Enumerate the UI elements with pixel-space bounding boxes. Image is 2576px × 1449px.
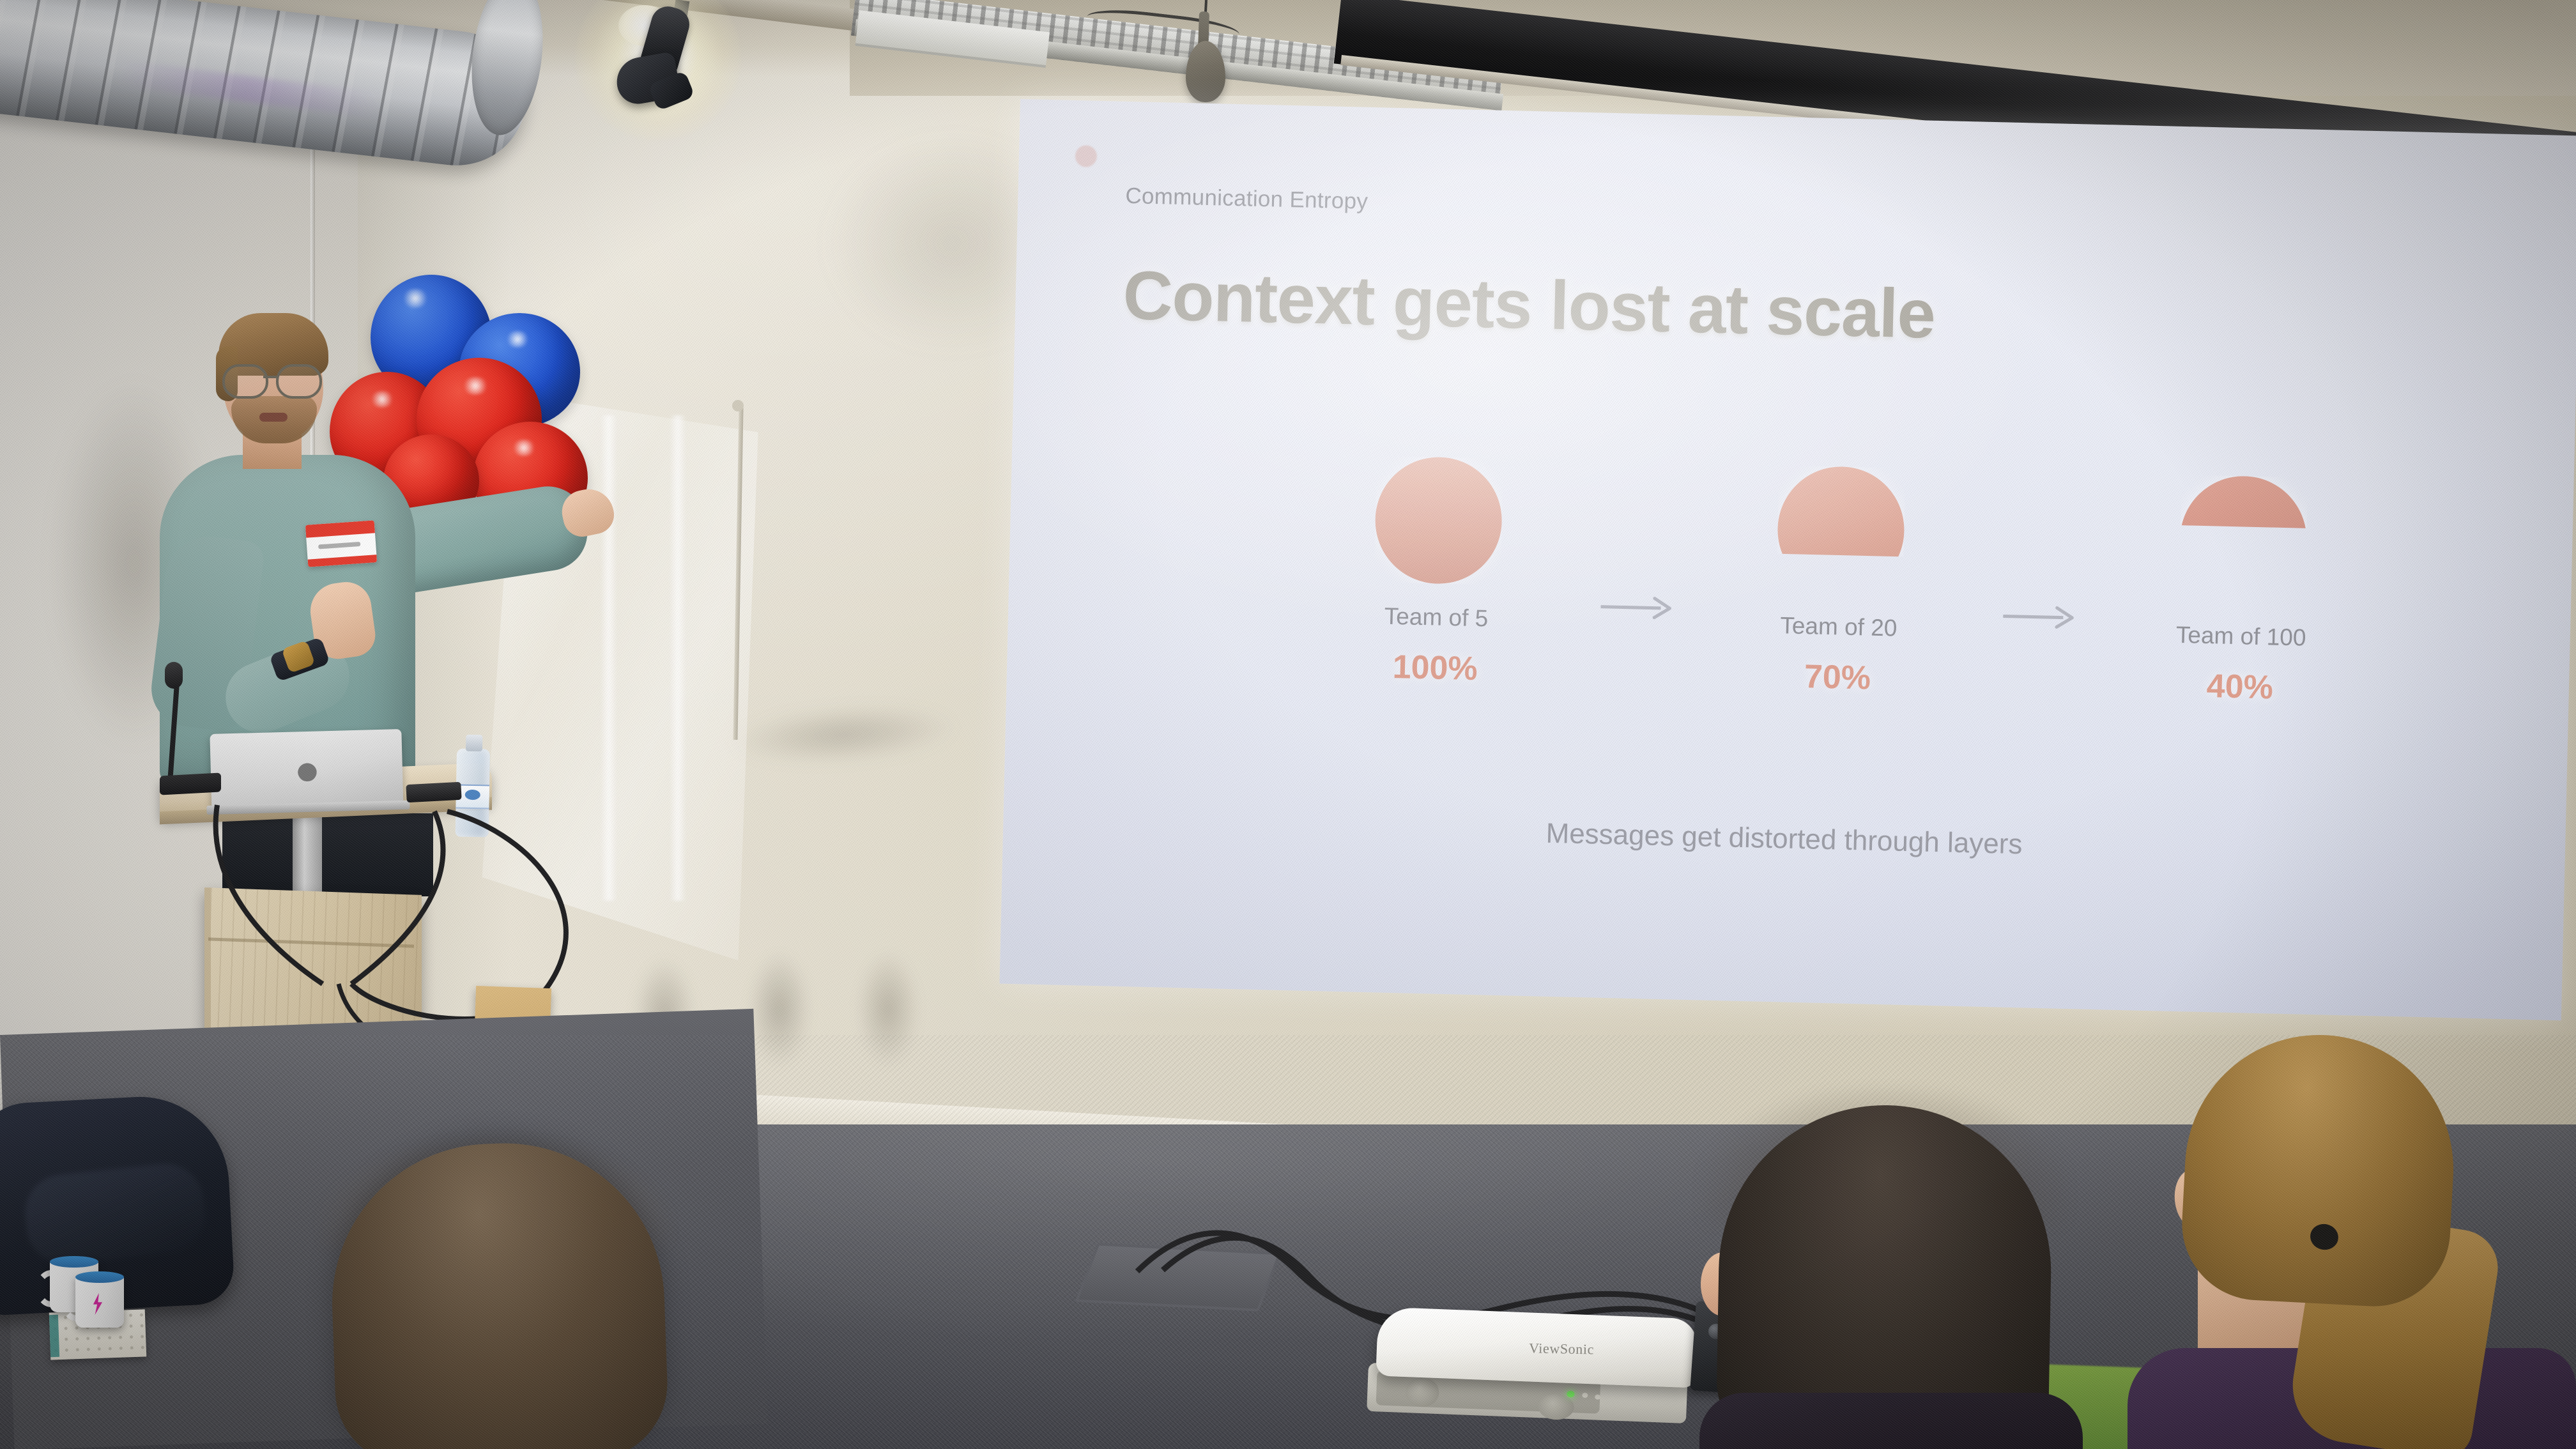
balloon-highlight-1 [401, 289, 429, 308]
bubble-wrap-1 [1766, 465, 1916, 609]
audience-shirt-center [1699, 1393, 2083, 1449]
stage-row: Team of 5 100% Team of 20 70% [1338, 455, 2340, 747]
bottle-cap [466, 735, 482, 751]
stage-percent-1: 70% [1804, 657, 1871, 697]
apple-logo-icon [297, 760, 317, 782]
slide-caption: Messages get distorted through layers [1003, 805, 2565, 874]
projector-brand-label: ViewSonic [1529, 1340, 1594, 1358]
photo-scene: Communication Entropy Context gets lost … [0, 0, 2576, 1449]
glasses-icon [221, 364, 328, 394]
mug-box-ribbon [49, 1315, 59, 1357]
context-bubble-1 [1776, 465, 1906, 595]
context-bubble-0 [1374, 456, 1503, 585]
stage-item-0: Team of 5 100% [1339, 455, 1536, 689]
projection-screen: Communication Entropy Context gets lost … [999, 99, 2576, 1020]
bubble-wrap-2 [2168, 475, 2318, 618]
mug-rim-1 [50, 1256, 98, 1268]
arrow-right-icon-2 [1997, 546, 2083, 688]
slide: Communication Entropy Context gets lost … [999, 99, 2576, 1020]
stage-item-2: Team of 100 40% [2143, 474, 2340, 709]
slide-decoration-dot [1075, 145, 1098, 167]
stage-label-0: Team of 5 [1384, 603, 1488, 632]
viewsonic-projector: ViewSonic [1367, 1307, 1709, 1428]
arrow-right-icon [1595, 536, 1681, 678]
slide-kicker: Communication Entropy [1125, 183, 1368, 215]
sheet-pole-knob [732, 400, 744, 411]
stage-percent-0: 100% [1392, 648, 1478, 688]
stage-label-1: Team of 20 [1780, 612, 1897, 641]
stage-label-2: Team of 100 [2175, 622, 2306, 652]
sheet-fold-2 [670, 415, 686, 901]
slide-title: Context gets lost at scale [1122, 255, 1936, 354]
context-bubble-2 [2179, 475, 2308, 604]
hello-my-name-is-badge [305, 520, 377, 567]
bubble-wrap-0 [1363, 456, 1514, 599]
mug-2 [75, 1275, 124, 1328]
microphone-icon [165, 662, 183, 689]
mug-rim-2 [75, 1271, 124, 1283]
stage-percent-2: 40% [2206, 667, 2273, 707]
stage-item-1: Team of 20 70% [1741, 464, 1938, 699]
speaker-mouth [259, 413, 287, 422]
